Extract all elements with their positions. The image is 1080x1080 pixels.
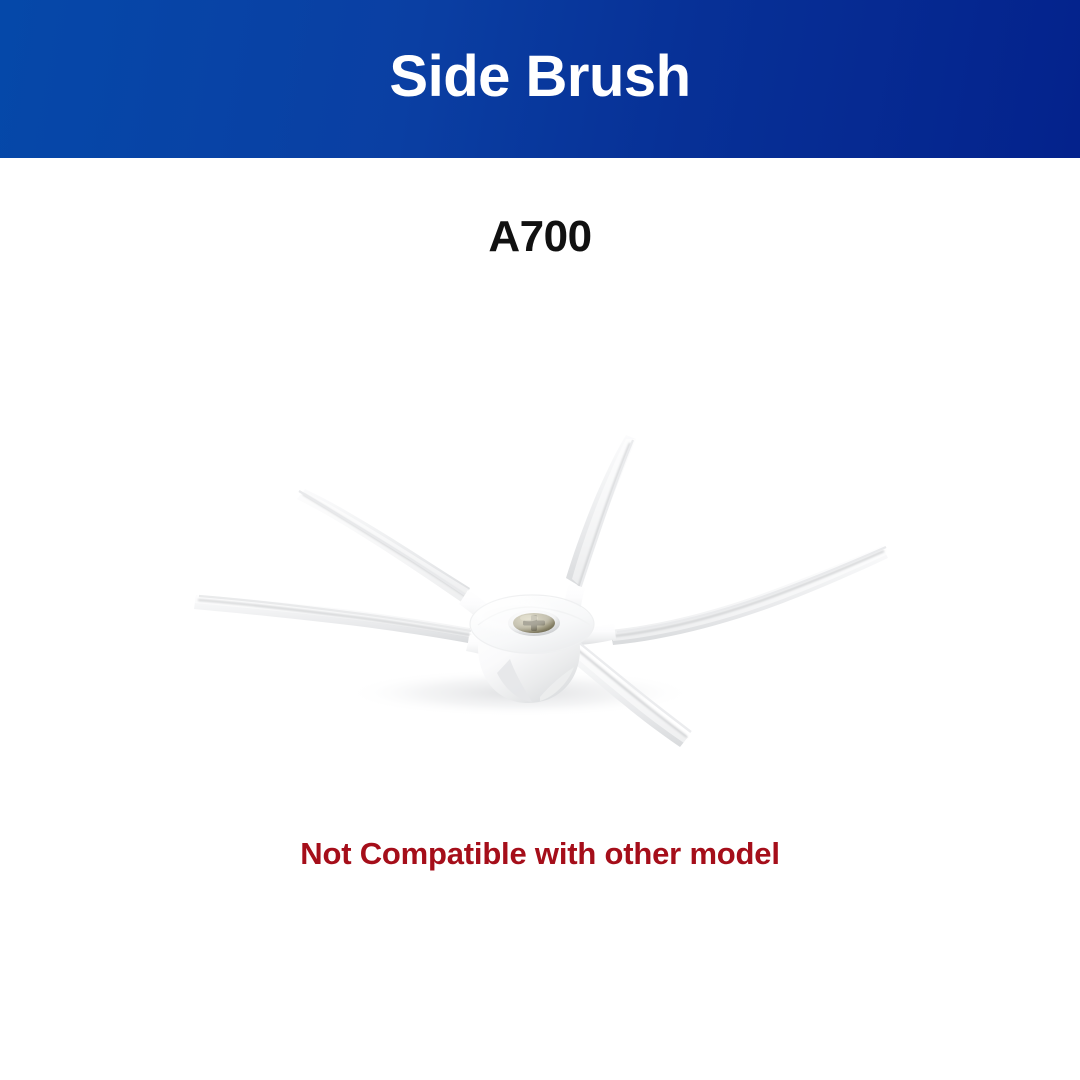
- brush-arm-right: [577, 545, 888, 645]
- header-banner: Side Brush: [0, 0, 1080, 158]
- brush-arm-left: [194, 592, 500, 659]
- page-title: Side Brush: [389, 48, 690, 106]
- content-area: A700: [0, 158, 1080, 1080]
- side-brush-illustration: [0, 363, 1080, 783]
- brush-arm-upper-middle: [563, 435, 636, 621]
- product-card: Side Brush A700: [0, 0, 1080, 1080]
- model-number-label: A700: [488, 215, 591, 259]
- product-image: [0, 363, 1080, 783]
- compatibility-note: Not Compatible with other model: [0, 836, 1080, 872]
